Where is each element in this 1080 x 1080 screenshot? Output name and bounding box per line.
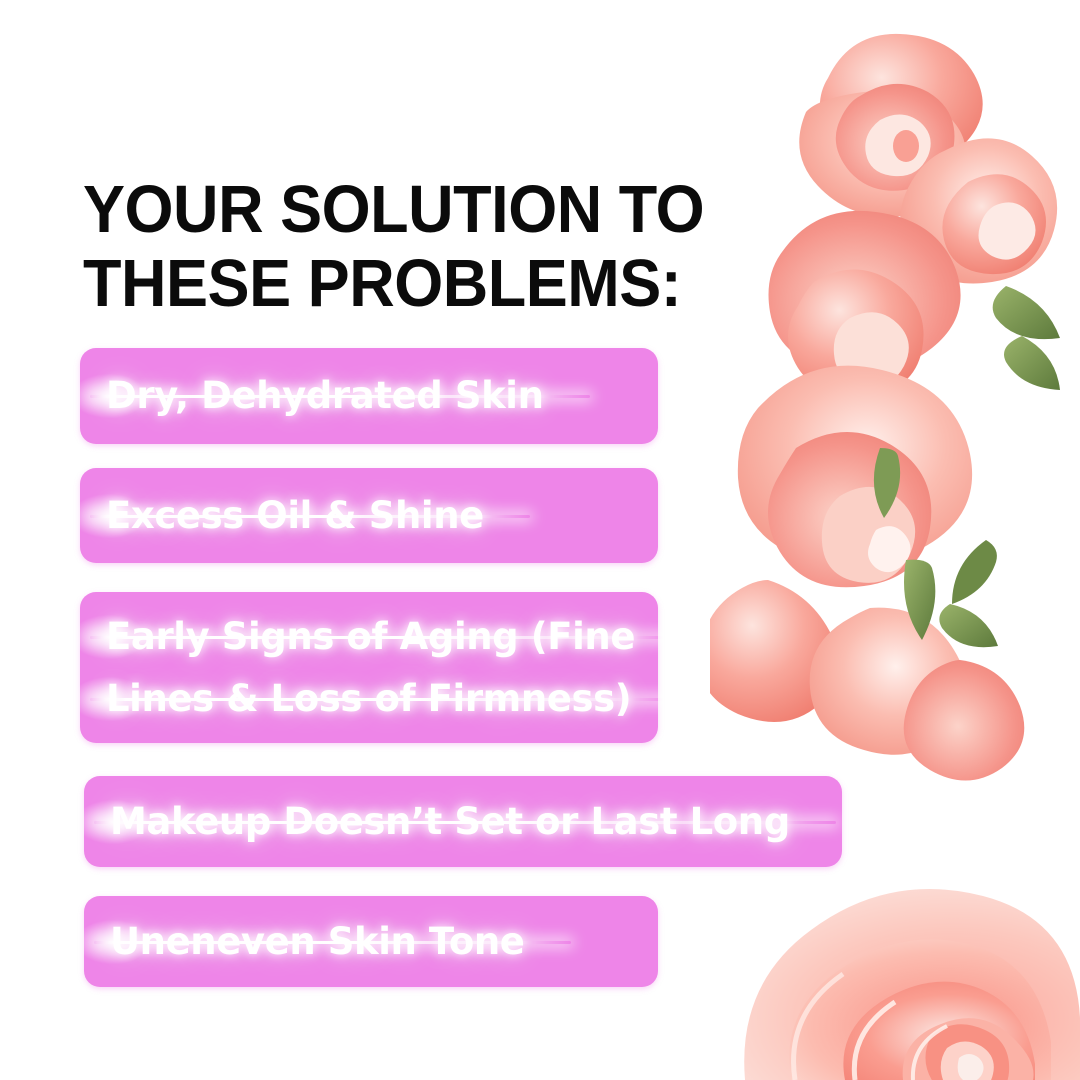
rose-cluster-image: [710, 0, 1080, 800]
problem-badge-text: Early Signs of Aging (Fine Lines & Loss …: [106, 606, 635, 730]
problem-badge-line: Lines & Loss of Firmness): [106, 668, 635, 730]
problem-badge-text: Uneneven Skin Tone: [110, 916, 525, 968]
rose-closeup-petals: [744, 889, 1080, 1080]
problem-badge-line: Excess Oil & Shine: [106, 490, 484, 542]
problem-badge-uneneven-skin-tone[interactable]: Uneneven Skin Tone: [84, 896, 658, 987]
problem-badge-line: Early Signs of Aging (Fine: [106, 606, 635, 668]
headline-line-1: YOUR SOLUTION TO: [83, 173, 741, 247]
problem-badge-makeup-doesnt-set[interactable]: Makeup Doesn’t Set or Last Long: [84, 776, 842, 867]
promo-graphic-canvas: YOUR SOLUTION TO THESE PROBLEMS: Dry, De…: [0, 0, 1080, 1080]
headline-line-2: THESE PROBLEMS:: [83, 247, 741, 321]
problem-badge-text: Excess Oil & Shine: [106, 490, 484, 542]
problem-badge-excess-oil-shine[interactable]: Excess Oil & Shine: [80, 468, 658, 563]
problem-badge-line: Uneneven Skin Tone: [110, 916, 525, 968]
problem-badge-text: Makeup Doesn’t Set or Last Long: [110, 796, 790, 848]
problem-badge-dry-dehydrated-skin[interactable]: Dry, Dehydrated Skin: [80, 348, 658, 444]
problem-badge-text: Dry, Dehydrated Skin: [106, 370, 544, 422]
problem-badge-early-signs-of-aging[interactable]: Early Signs of Aging (Fine Lines & Loss …: [80, 592, 658, 743]
rose-petals-group: [710, 34, 1060, 781]
problem-badge-line: Dry, Dehydrated Skin: [106, 370, 544, 422]
problem-badge-line: Makeup Doesn’t Set or Last Long: [110, 796, 790, 848]
page-title: YOUR SOLUTION TO THESE PROBLEMS:: [83, 173, 741, 321]
